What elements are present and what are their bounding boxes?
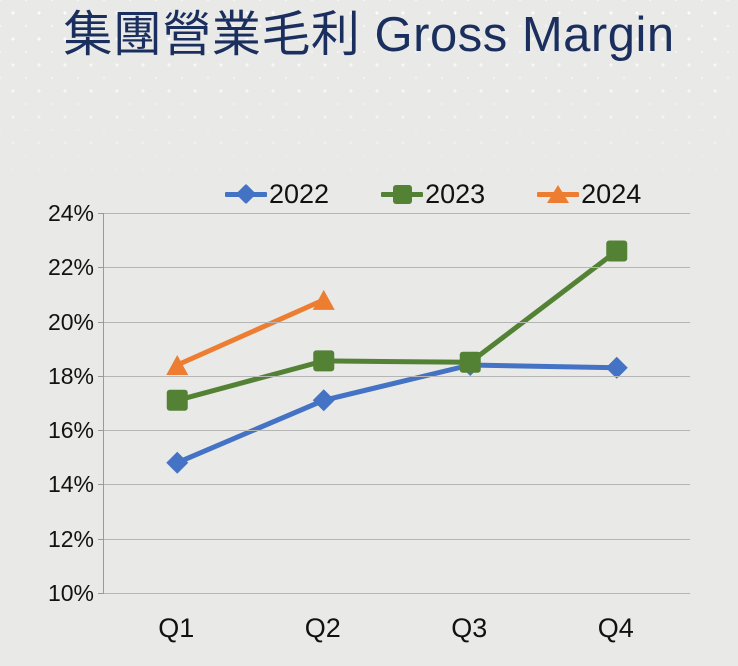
y-axis-labels: 24%22%20%18%16%14%12%10% (8, 213, 94, 593)
x-axis-labels: Q1Q2Q3Q4 (103, 612, 689, 652)
triangle-marker-icon (166, 355, 188, 375)
gridline (104, 322, 690, 323)
y-axis-tick-label: 22% (14, 256, 94, 279)
y-axis-tick-label: 18% (14, 365, 94, 388)
square-marker-icon (460, 352, 481, 373)
page-title: 集團營業毛利 Gross Margin (0, 2, 738, 68)
legend-swatch-2022 (225, 184, 267, 204)
gridline (104, 430, 690, 431)
x-axis-tick-label: Q1 (131, 612, 221, 644)
gridline (104, 376, 690, 377)
series-line-2022 (177, 365, 617, 463)
y-axis-tick-label: 24% (14, 202, 94, 225)
diamond-marker-icon (313, 389, 335, 411)
y-axis-tick (98, 430, 104, 431)
square-marker-icon (606, 241, 627, 262)
gridline (104, 593, 690, 594)
y-axis-tick-label: 10% (14, 582, 94, 605)
y-axis-tick (98, 213, 104, 214)
diamond-marker-icon (166, 452, 188, 474)
series-line-2023 (177, 251, 617, 400)
square-marker-icon (392, 184, 412, 204)
square-marker-icon (167, 390, 188, 411)
gridline (104, 539, 690, 540)
gridline (104, 484, 690, 485)
triangle-marker-icon (548, 184, 568, 204)
gridline (104, 267, 690, 268)
legend-label-2022: 2022 (269, 179, 329, 209)
x-axis-tick-label: Q3 (424, 612, 514, 644)
y-axis-tick-label: 14% (14, 473, 94, 496)
diamond-marker-icon (236, 184, 256, 204)
x-axis-tick-label: Q4 (571, 612, 661, 644)
y-axis-tick-label: 20% (14, 311, 94, 334)
y-axis-tick (98, 593, 104, 594)
legend-label-2024: 2024 (581, 179, 641, 209)
plot-area (103, 213, 690, 594)
legend-item-2024[interactable]: 2024 (537, 179, 641, 209)
legend-swatch-2023 (381, 184, 423, 204)
y-axis-tick (98, 267, 104, 268)
legend-item-2023[interactable]: 2023 (381, 179, 485, 209)
legend-swatch-2024 (537, 184, 579, 204)
y-axis-tick (98, 322, 104, 323)
chart-legend: 2022 2023 2024 (225, 178, 625, 210)
legend-label-2023: 2023 (425, 179, 485, 209)
gridline (104, 213, 690, 214)
legend-item-2022[interactable]: 2022 (225, 179, 329, 209)
series-line-2024 (177, 300, 324, 365)
y-axis-tick (98, 376, 104, 377)
y-axis-tick (98, 539, 104, 540)
chart-series-canvas (104, 213, 690, 593)
y-axis-tick-label: 12% (14, 528, 94, 551)
y-axis-tick-label: 16% (14, 419, 94, 442)
triangle-marker-icon (313, 290, 335, 310)
x-axis-tick-label: Q2 (278, 612, 368, 644)
y-axis-tick (98, 484, 104, 485)
square-marker-icon (313, 350, 334, 371)
